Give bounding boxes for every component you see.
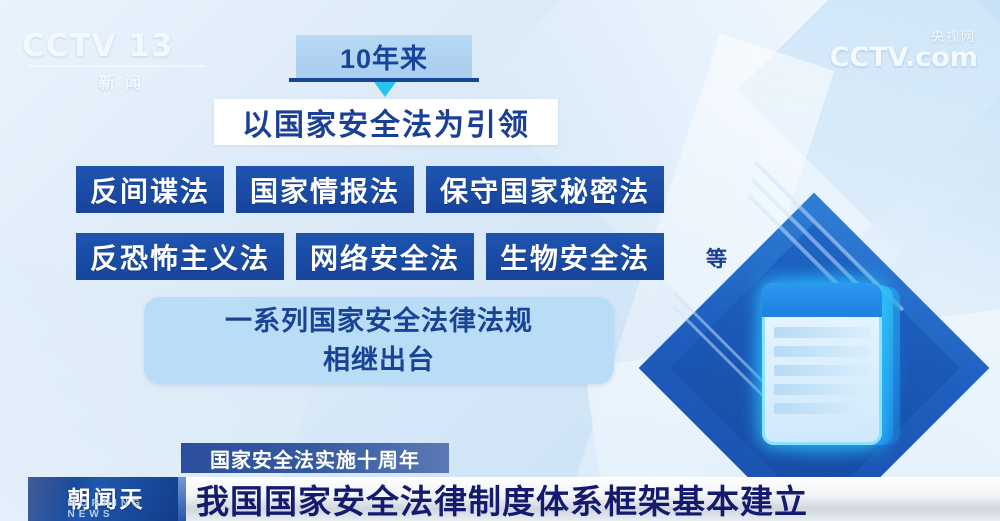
channel-logo-sub: 新闻 [22, 69, 212, 93]
topic-tag-label: 国家安全法实施十周年 [210, 444, 420, 473]
law-box: 网络安全法 [296, 233, 474, 280]
law-label: 反恐怖主义法 [90, 237, 270, 277]
summary-line-2: 相继出台 [323, 341, 435, 379]
law-box: 反间谍法 [76, 166, 224, 213]
channel-logo: CCTV 13 新闻 [22, 28, 212, 90]
document-icon-header [762, 283, 882, 317]
lower-third: 朝闻天下 MORNING NEWS 我国国家安全法律制度体系框架基本建立 [0, 477, 1000, 521]
document-icon-line [774, 365, 870, 376]
topic-tag: 国家安全法实施十周年 [181, 443, 449, 473]
document-icon-line [774, 327, 870, 338]
law-box: 国家情报法 [236, 166, 414, 213]
law-box: 反恐怖主义法 [76, 233, 284, 280]
etc-label: 等 [706, 243, 727, 273]
document-icon-line [774, 346, 870, 357]
document-icon-line [774, 384, 870, 395]
down-arrow-icon [374, 82, 396, 97]
document-icon [762, 283, 890, 448]
headline-text: 我国国家安全法律制度体系框架基本建立 [196, 475, 808, 521]
summary-line-1: 一系列国家安全法律法规 [225, 302, 533, 340]
period-tag-label: 10年来 [340, 37, 428, 76]
website-watermark: 央视网 CCTV.com [830, 26, 978, 71]
law-box: 保守国家秘密法 [426, 166, 664, 213]
channel-logo-mark: CCTV 13 [22, 28, 212, 64]
law-row-2: 反恐怖主义法 网络安全法 生物安全法 [76, 233, 664, 280]
law-label: 保守国家秘密法 [440, 170, 650, 210]
summary-box: 一系列国家安全法律法规 相继出台 [144, 297, 614, 384]
channel-logo-rule [28, 65, 204, 67]
document-icon-page [762, 283, 882, 445]
document-icon-line [774, 403, 870, 414]
law-row-1: 反间谍法 国家情报法 保守国家秘密法 [76, 166, 664, 213]
lead-statement: 以国家安全法为引领 [214, 99, 558, 145]
watermark-en: CCTV.com [830, 45, 978, 71]
headline-bar: 我国国家安全法律制度体系框架基本建立 [186, 477, 1000, 521]
program-logo: 朝闻天下 MORNING NEWS [28, 477, 186, 521]
law-label: 国家情报法 [250, 170, 400, 210]
program-name-en: MORNING NEWS [68, 498, 147, 520]
law-label: 生物安全法 [500, 237, 650, 277]
period-tag: 10年来 [296, 35, 472, 78]
headline-bar-edge [178, 477, 186, 521]
law-label: 反间谍法 [90, 170, 210, 210]
law-box: 生物安全法 [486, 233, 664, 280]
broadcast-screen: CCTV 13 新闻 央视网 CCTV.com 10年来 以国家安全法为引领 反… [0, 0, 1000, 521]
lead-statement-label: 以国家安全法为引领 [242, 100, 530, 144]
law-label: 网络安全法 [310, 237, 460, 277]
